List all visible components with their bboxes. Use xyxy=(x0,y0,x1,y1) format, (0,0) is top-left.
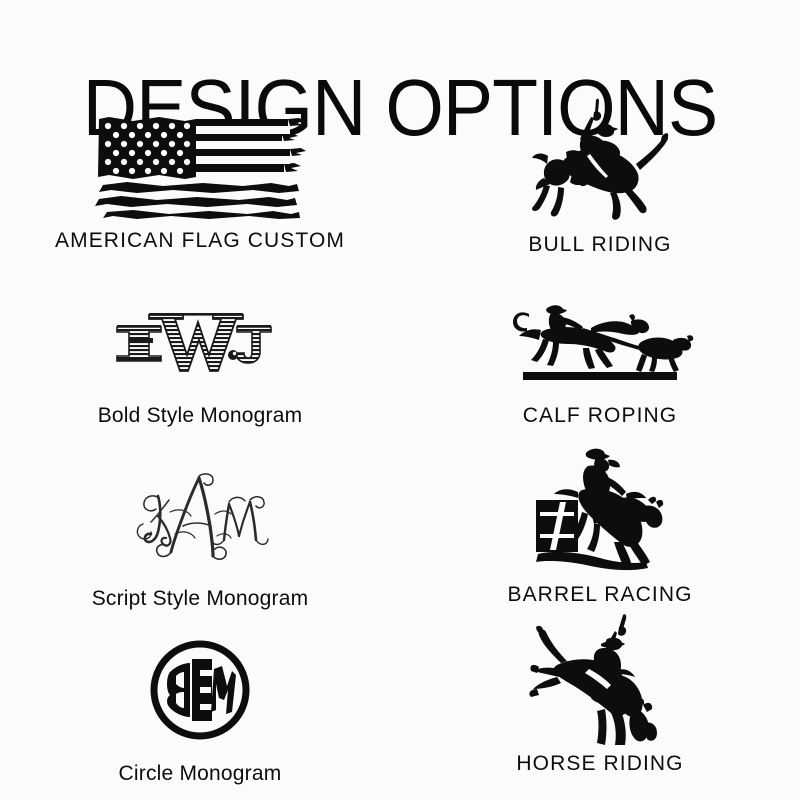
circle-monogram-icon xyxy=(148,635,252,745)
design-options-grid: AMERICAN FLAG CUSTOM xyxy=(0,108,800,800)
design-option-script-style-monogram[interactable]: Script Style Monogram xyxy=(0,454,400,627)
design-option-circle-monogram[interactable]: Circle Monogram xyxy=(0,627,400,800)
design-option-american-flag-custom[interactable]: AMERICAN FLAG CUSTOM xyxy=(0,108,400,281)
design-option-label: Bold Style Monogram xyxy=(98,403,303,429)
design-option-barrel-racing[interactable]: BARREL RACING xyxy=(400,454,800,627)
script-monogram-icon xyxy=(125,462,275,570)
design-option-calf-roping[interactable]: CALF ROPING xyxy=(400,281,800,454)
barrel-racing-icon xyxy=(530,450,670,576)
bold-monogram-icon xyxy=(109,293,291,389)
design-option-horse-riding[interactable]: HORSE RIDING xyxy=(400,627,800,800)
distressed-american-flag-icon xyxy=(93,108,307,226)
design-option-label: HORSE RIDING xyxy=(516,751,683,777)
bull-riding-icon xyxy=(530,100,670,230)
design-option-bull-riding[interactable]: BULL RIDING xyxy=(400,108,800,281)
design-option-label: BULL RIDING xyxy=(528,232,671,258)
horse-riding-icon xyxy=(527,617,673,749)
design-option-label: AMERICAN FLAG CUSTOM xyxy=(55,228,345,254)
design-options-page: DESIGN OPTIONS xyxy=(0,0,800,800)
calf-roping-icon xyxy=(505,293,695,389)
design-option-label: CALF ROPING xyxy=(523,403,677,429)
design-option-bold-style-monogram[interactable]: Bold Style Monogram xyxy=(0,281,400,454)
design-option-label: Circle Monogram xyxy=(119,761,282,787)
design-option-label: Script Style Monogram xyxy=(92,586,309,612)
design-option-label: BARREL RACING xyxy=(507,582,692,608)
